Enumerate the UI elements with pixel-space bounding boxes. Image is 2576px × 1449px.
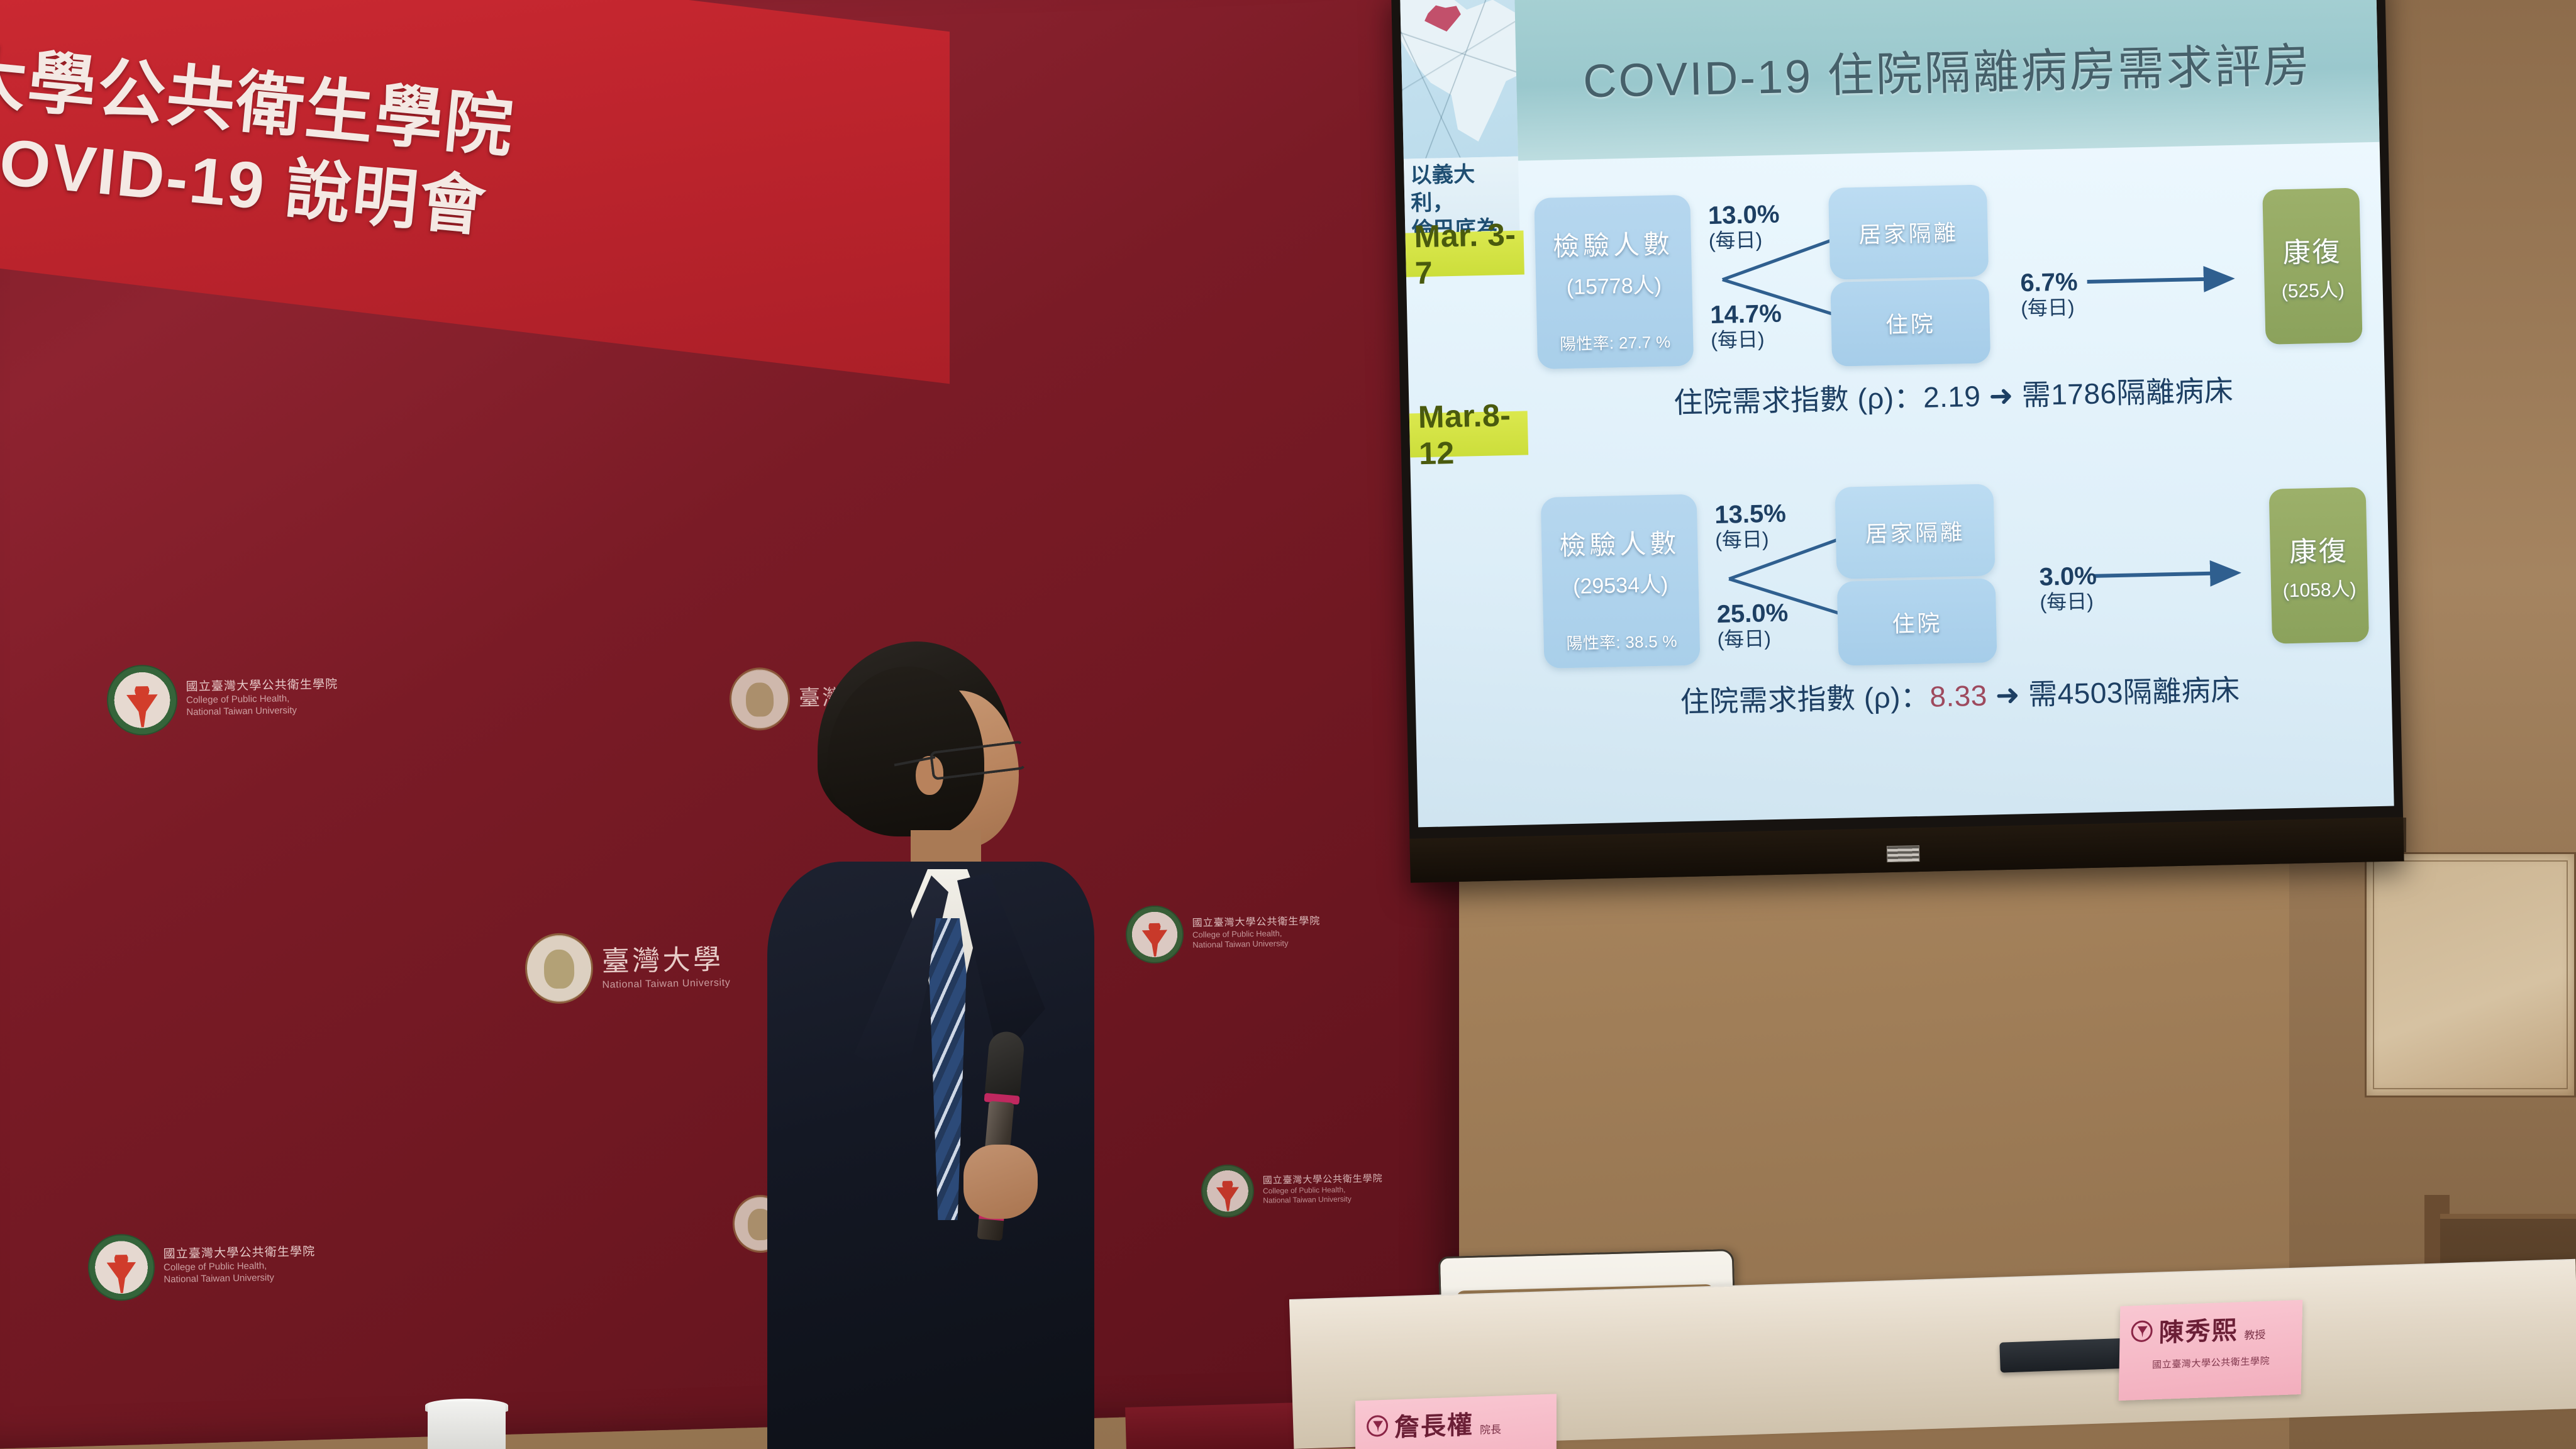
summary-arrow-icon: ➜	[1995, 678, 2020, 711]
summary-line-period-2: 住院需求指數 (ρ)：8.33 ➜ 需4503隔離病床	[1541, 664, 2379, 724]
logo-en-line2: National Taiwan University	[1192, 938, 1321, 950]
map-borders	[1400, 0, 1518, 159]
summary-prefix: 住院需求指數 (ρ)：	[1680, 680, 1930, 719]
flow-diagram-period-2: 檢驗人數 (29534人) 陽性率: 38.5 % 13.5% (每日) 25.…	[1541, 475, 2373, 674]
nameplate-name: 陳秀熙	[2158, 1309, 2238, 1348]
nameplate-chan: 詹長權 院長	[1355, 1394, 1557, 1449]
mic-head	[984, 1030, 1025, 1101]
ntu-crest-icon	[2131, 1320, 2153, 1342]
positivity-rate: 陽性率: 27.7 %	[1537, 329, 1694, 355]
rate-frequency: (每日)	[2021, 296, 2079, 320]
node-label: 檢驗人數	[1552, 223, 1674, 264]
nameplate-name: 詹長權	[1394, 1404, 1474, 1443]
node-home-isolation: 居家隔離	[1835, 484, 1995, 579]
positivity-rate: 陽性率: 38.5 %	[1543, 628, 1700, 655]
ntu-seal-icon	[525, 933, 594, 1004]
speaker-hand	[963, 1145, 1038, 1219]
rate-value: 6.7%	[2020, 268, 2078, 297]
slide-content: 以義大利， 倫巴底為例 Mar. 3-7 Mar.8-12 COVID-19 住…	[1400, 0, 2394, 827]
node-recovered: 康復 (525人)	[2262, 187, 2362, 344]
cph-seal-icon	[106, 664, 178, 736]
summary-line-period-1: 住院需求指數 (ρ)：2.19 ➜ 需1786隔離病床	[1535, 365, 2373, 425]
cph-seal-icon	[87, 1233, 155, 1301]
node-label: 康復	[2282, 229, 2342, 270]
nameplate-chen: 陳秀熙 教授 國立臺灣大學公共衛生學院	[2119, 1300, 2302, 1401]
node-recovered: 康復 (1058人)	[2269, 487, 2369, 643]
rate-frequency: (每日)	[1708, 228, 1780, 252]
nameplate-affiliation: 國立臺灣大學公共衛生學院	[2131, 1353, 2292, 1372]
logo-en-line2: National Taiwan University	[164, 1272, 316, 1286]
screen-brand-chip	[1887, 845, 1920, 862]
node-count: (525人)	[2281, 274, 2345, 303]
nameplate-title: 教授	[2244, 1326, 2266, 1346]
map-caption-line1: 以義大利，	[1410, 160, 1516, 218]
logo-cn-text: 臺灣大學	[601, 942, 730, 979]
rate-frequency: (每日)	[1715, 528, 1787, 552]
date-chip-period-1: Mar. 3-7	[1405, 231, 1524, 277]
node-home-isolation: 居家隔離	[1828, 184, 1989, 279]
node-hospitalization: 住院	[1837, 578, 1997, 665]
hospitalization-rate-1: 14.7% (每日)	[1710, 300, 1782, 352]
slide-title: COVID-19 住院隔離病房需求評房	[1582, 28, 2312, 111]
summary-rho-value: 8.33	[1929, 679, 1987, 713]
summary-suffix: 需1786隔離病床	[2021, 374, 2234, 411]
logo-en-text: National Taiwan University	[602, 977, 730, 992]
summary-suffix: 需4503隔離病床	[2028, 674, 2241, 711]
home-isolation-rate-2: 13.5% (每日)	[1714, 500, 1787, 552]
speaker	[742, 641, 1132, 1449]
backdrop-logo-cph-4: 國立臺灣大學公共衛生學院 College of Public Health, N…	[1201, 1162, 1383, 1218]
summary-rho-value: 2.19	[1923, 380, 1980, 414]
recovery-rate-1: 6.7% (每日)	[2020, 268, 2079, 320]
node-label: 檢驗人數	[1559, 522, 1680, 563]
node-count: (1058人)	[2282, 574, 2357, 603]
rate-frequency: (每日)	[2040, 591, 2097, 614]
date-chip-period-2: Mar.8-12	[1409, 411, 1528, 457]
photo-stage: 大學公共衛生學院 COVID-19 說明會 國立臺灣大學公共衛生學院 Colle…	[0, 0, 2576, 1449]
node-tested-count: 檢驗人數 (15778人) 陽性率: 27.7 %	[1534, 195, 1694, 369]
cph-seal-icon	[1201, 1164, 1254, 1218]
rate-value: 3.0%	[2039, 562, 2097, 592]
backdrop-logo-cph-2: 國立臺灣大學公共衛生學院 College of Public Health, N…	[87, 1231, 316, 1301]
rate-value: 25.0%	[1716, 599, 1788, 628]
backdrop-logo-cph-1: 國立臺灣大學公共衛生學院 College of Public Health, N…	[106, 662, 339, 736]
hospitalization-rate-2: 25.0% (每日)	[1716, 599, 1789, 651]
backdrop-logo-cph-3: 國立臺灣大學公共衛生學院 College of Public Health, N…	[1125, 902, 1321, 963]
node-label: 康復	[2289, 528, 2348, 570]
cph-seal-icon	[1125, 905, 1184, 964]
backdrop-logo-ntu-main: 臺灣大學 National Taiwan University	[525, 930, 731, 1004]
rate-frequency: (每日)	[1717, 627, 1789, 651]
node-hospitalization: 住院	[1830, 279, 1990, 366]
paper-cup	[428, 1402, 506, 1449]
home-isolation-rate-1: 13.0% (每日)	[1707, 201, 1780, 253]
projection-screen: 以義大利， 倫巴底為例 Mar. 3-7 Mar.8-12 COVID-19 住…	[1391, 0, 2404, 883]
node-tested-count: 檢驗人數 (29534人) 陽性率: 38.5 %	[1541, 494, 1701, 669]
nameplate-title: 院長	[1480, 1420, 1501, 1440]
logo-en-line2: National Taiwan University	[186, 704, 338, 719]
flow-diagram-period-1: 檢驗人數 (15778人) 陽性率: 27.7 % 13.0% (每日) 14.…	[1534, 176, 2367, 374]
node-count: (15778人)	[1566, 268, 1662, 301]
ntu-crest-icon	[1367, 1415, 1388, 1437]
door-panel	[2365, 852, 2576, 1097]
italy-map	[1400, 0, 1518, 159]
rate-frequency: (每日)	[1711, 328, 1782, 352]
slide-title-band: COVID-19 住院隔離病房需求評房	[1514, 0, 2379, 161]
node-count: (29534人)	[1573, 567, 1668, 600]
summary-arrow-icon: ➜	[1989, 379, 2014, 413]
rate-value: 14.7%	[1710, 300, 1782, 330]
rate-value: 13.0%	[1707, 201, 1779, 230]
logo-en-line2: National Taiwan University	[1263, 1194, 1383, 1206]
summary-prefix: 住院需求指數 (ρ)：	[1674, 381, 1924, 419]
rate-value: 13.5%	[1714, 500, 1786, 530]
recovery-rate-2: 3.0% (每日)	[2039, 562, 2097, 614]
